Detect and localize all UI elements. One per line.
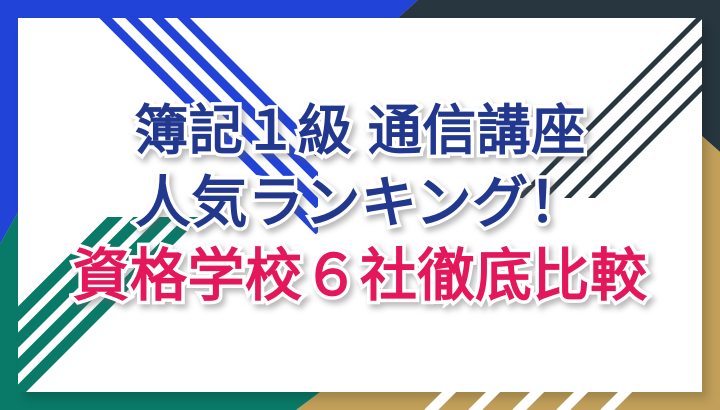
banner-title-line-2: 人気ランキング！ [135,172,585,235]
banner-title-line-3: 資格学校６社徹底比較 [73,245,648,309]
promo-banner: 簿記１級 通信講座 人気ランキング！ 資格学校６社徹底比較 [0,0,720,410]
banner-title-line-1: 簿記１級 通信講座 [134,101,586,161]
banner-title-stack: 簿記１級 通信講座 人気ランキング！ 資格学校６社徹底比較 [0,0,720,410]
